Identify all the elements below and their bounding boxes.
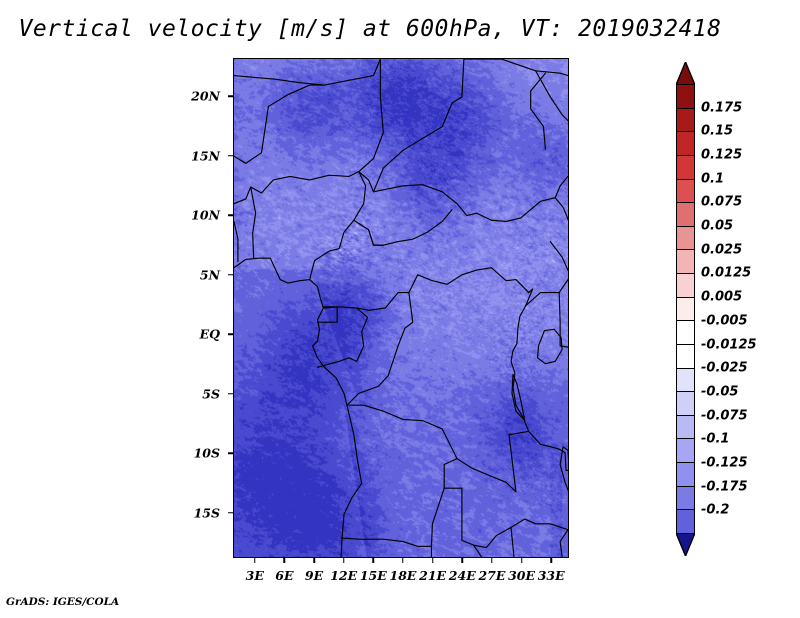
colorbar-band [677,369,694,393]
border-line [373,185,491,221]
country-borders-overlay [234,59,568,557]
colorbar-tick-label: 0.0125 [701,266,751,281]
border-line [491,198,568,222]
longitude-tick-mark [432,558,434,563]
latitude-tick-label: 20N [191,89,228,104]
colorbar-tick-label: -0.125 [701,455,748,470]
latitude-tick-mark [228,512,233,514]
longitude-tick-mark [284,558,286,563]
page-title: Vertical velocity [m/s] at 600hPa, VT: 2… [0,16,740,42]
longitude-tick-label: 33E [538,568,565,583]
colorbar-band [677,203,694,227]
colorbar-tick-label: 0.15 [701,124,733,139]
border-line [511,527,514,557]
latitude-tick-label: EQ [200,327,228,342]
border-line [234,187,251,204]
latitude-tick-label: 5N [200,267,228,282]
border-line [457,434,516,492]
longitude-tick-label: 27E [478,568,505,583]
latitude-tick-label: 10S [194,446,228,461]
latitude-tick-label: 10N [191,208,228,223]
border-line [538,329,563,363]
map-plot-area[interactable] [233,58,569,558]
colorbar-band [677,180,694,204]
colorbar-band [677,250,694,274]
longitude-tick-mark [462,558,464,563]
colorbar-band [677,321,694,345]
colorbar-tick-label: -0.075 [701,408,748,423]
latitude-tick-mark [228,452,233,454]
border-line [234,106,268,163]
longitude-axis: 3E6E9E12E15E18E21E24E27E30E33E [233,558,569,588]
border-line [559,293,568,348]
border-line [347,293,413,406]
colorbar-tick-label: 0.175 [701,100,742,115]
colorbar-tick-label: 0.075 [701,195,742,210]
colorbar-tick-label: -0.05 [701,384,738,399]
border-line [560,530,568,557]
latitude-axis: 20N15N10N5NEQ5S10S15S [0,58,228,558]
border-line [373,210,452,246]
longitude-tick-mark [313,558,315,563]
colorbar-band [677,439,694,463]
colorbar-tick-label: -0.005 [701,313,748,328]
longitude-tick-label: 12E [330,568,357,583]
colorbar-tick-label: -0.2 [701,503,729,518]
latitude-tick-label: 15N [191,148,228,163]
colorbar-band [677,156,694,180]
colorbar-band [677,85,694,109]
colorbar-band [677,463,694,487]
border-line [550,242,568,280]
longitude-tick-label: 3E [246,568,264,583]
colorbar-band [677,392,694,416]
border-line [373,59,463,192]
latitude-tick-mark [228,214,233,216]
latitude-tick-mark [228,155,233,157]
border-line [234,221,238,261]
longitude-tick-mark [373,558,375,563]
latitude-tick-mark [228,274,233,276]
colorbar-min-arrow-icon [676,533,695,556]
longitude-tick-mark [402,558,404,563]
colorbar-tick-label: 0.1 [701,171,724,186]
border-line [444,488,568,547]
colorbar-tick-label: 0.005 [701,290,742,305]
colorbar-band [677,132,694,156]
longitude-tick-label: 6E [275,568,293,583]
colorbar-tick-label: 0.05 [701,219,733,234]
latitude-tick-mark [228,95,233,97]
longitude-tick-mark [550,558,552,563]
latitude-tick-label: 15S [194,505,228,520]
colorbar-tick-label: 0.125 [701,148,742,163]
longitude-tick-mark [491,558,493,563]
colorbar-band [677,109,694,133]
colorbar-band [677,227,694,251]
border-line [310,172,374,280]
colorbar-band [677,274,694,298]
border-line [234,59,380,85]
border-line [251,187,256,258]
colorbar-tick-label: -0.175 [701,479,748,494]
border-line [555,166,568,198]
border-line [268,85,324,106]
longitude-tick-label: 9E [305,568,323,583]
colorbar-band [677,345,694,369]
colorbar-max-arrow-icon [676,62,695,85]
longitude-tick-label: 24E [449,568,476,583]
colorbar-band [677,487,694,511]
longitude-tick-mark [254,558,256,563]
colorbar[interactable]: 0.1750.150.1250.10.0750.050.0250.01250.0… [676,62,786,557]
border-line [341,405,457,546]
longitude-tick-label: 21E [419,568,446,583]
longitude-tick-label: 18E [390,568,417,583]
longitude-tick-label: 30E [508,568,535,583]
latitude-tick-mark [228,393,233,395]
longitude-tick-mark [343,558,345,563]
colorbar-band [677,510,694,533]
longitude-tick-mark [521,558,523,563]
border-line [509,289,533,435]
colorbar-tick-label: -0.0125 [701,337,757,352]
border-line [354,220,374,245]
colorbar-tick-label: -0.025 [701,361,748,376]
border-line [464,59,568,76]
colorbar-tick-label: -0.1 [701,432,729,447]
colorbar-band [677,298,694,322]
border-line [369,230,384,245]
colorbar-band [677,416,694,440]
latitude-tick-mark [228,333,233,335]
border-line [323,268,528,311]
border-line [234,258,362,557]
colorbar-bands [676,84,695,534]
footer-credit: GrADS: IGES/COLA [6,596,119,608]
colorbar-tick-label: 0.025 [701,242,742,257]
border-line [251,172,359,193]
latitude-tick-label: 5S [202,386,228,401]
border-line [526,280,568,306]
longitude-tick-label: 15E [360,568,387,583]
border-line [560,447,568,500]
border-line [318,308,368,367]
